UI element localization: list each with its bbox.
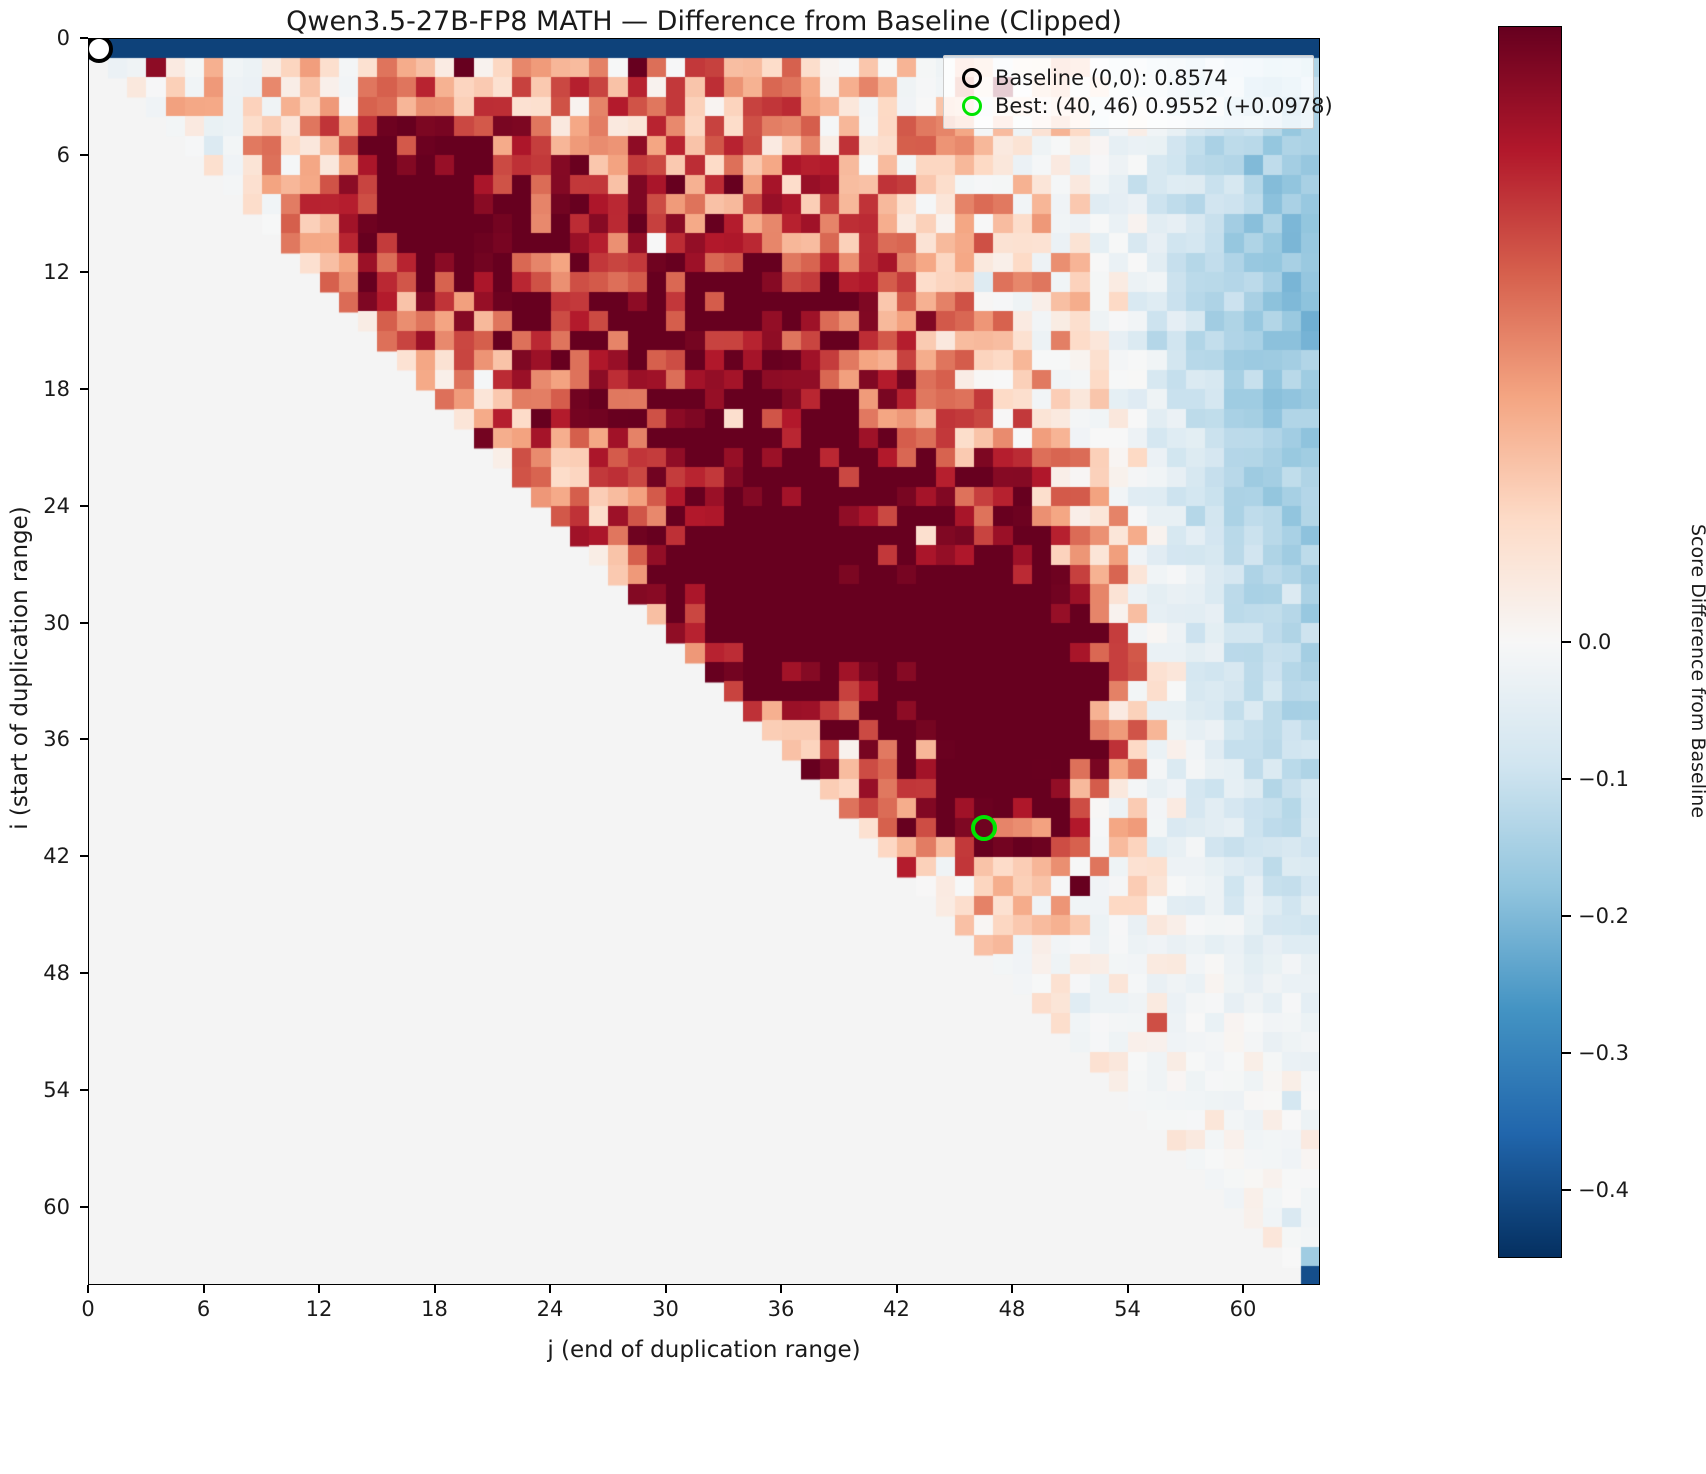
- colorbar-tick-label: −0.4: [1578, 1178, 1629, 1202]
- legend-label-baseline: Baseline (0,0): 0.8574: [995, 66, 1228, 90]
- y-tick-label: 6: [57, 143, 70, 167]
- y-tick: [80, 154, 88, 156]
- y-tick: [80, 388, 88, 390]
- y-tick: [80, 622, 88, 624]
- x-tick: [1011, 1285, 1013, 1293]
- colorbar-tick-label: 0.0: [1578, 630, 1611, 654]
- heatmap-axes[interactable]: [88, 38, 1320, 1285]
- x-tick: [87, 1285, 89, 1293]
- colorbar-label: Score Difference from Baseline: [1687, 391, 1706, 951]
- legend-box: Baseline (0,0): 0.8574 Best: (40, 46) 0.…: [943, 55, 1314, 129]
- x-tick-label: 60: [1230, 1297, 1257, 1321]
- y-tick-label: 60: [43, 1195, 70, 1219]
- x-axis-label: j (end of duplication range): [88, 1337, 1320, 1363]
- y-tick: [80, 37, 88, 39]
- x-tick: [1242, 1285, 1244, 1293]
- black-ring-icon: [955, 68, 988, 88]
- x-tick: [549, 1285, 551, 1293]
- x-tick-label: 30: [652, 1297, 679, 1321]
- y-tick-label: 36: [43, 727, 70, 751]
- x-tick-label: 12: [306, 1297, 333, 1321]
- y-tick: [80, 738, 88, 740]
- x-tick: [434, 1285, 436, 1293]
- y-tick: [80, 271, 88, 273]
- x-tick: [780, 1285, 782, 1293]
- x-tick: [665, 1285, 667, 1293]
- y-tick-label: 48: [43, 961, 70, 985]
- y-tick-label: 12: [43, 260, 70, 284]
- y-tick: [80, 1206, 88, 1208]
- legend-label-best: Best: (40, 46) 0.9552 (+0.0978): [995, 94, 1333, 118]
- y-tick-label: 42: [43, 844, 70, 868]
- y-tick-label: 54: [43, 1078, 70, 1102]
- y-tick: [80, 855, 88, 857]
- page-title: Qwen3.5-27B-FP8 MATH — Difference from B…: [88, 6, 1320, 37]
- x-tick-label: 24: [537, 1297, 564, 1321]
- y-tick: [80, 505, 88, 507]
- x-tick: [1127, 1285, 1129, 1293]
- y-tick: [80, 972, 88, 974]
- x-tick-label: 48: [999, 1297, 1026, 1321]
- colorbar-tick-label: −0.1: [1578, 767, 1629, 791]
- heatmap-cells[interactable]: [89, 39, 1320, 1285]
- colorbar-tick-label: −0.3: [1578, 1041, 1629, 1065]
- x-tick-label: 6: [197, 1297, 210, 1321]
- green-ring-icon: [955, 96, 988, 116]
- colorbar-gradient: [1498, 26, 1562, 1258]
- x-tick-label: 42: [883, 1297, 910, 1321]
- x-tick: [318, 1285, 320, 1293]
- colorbar-tick-label: −0.2: [1578, 904, 1629, 928]
- colorbar-tick: [1562, 915, 1571, 917]
- colorbar-tick: [1562, 1189, 1571, 1191]
- x-tick-label: 54: [1114, 1297, 1141, 1321]
- colorbar-tick: [1562, 778, 1571, 780]
- x-tick: [896, 1285, 898, 1293]
- y-tick-label: 24: [43, 494, 70, 518]
- colorbar: [1498, 26, 1562, 1258]
- x-tick-label: 0: [81, 1297, 94, 1321]
- colorbar-tick: [1562, 1052, 1571, 1054]
- figure-canvas: Qwen3.5-27B-FP8 MATH — Difference from B…: [0, 0, 1706, 1474]
- y-axis-label: i (start of duplication range): [7, 318, 33, 1018]
- x-tick: [203, 1285, 205, 1293]
- y-tick-label: 18: [43, 377, 70, 401]
- y-tick-label: 30: [43, 611, 70, 635]
- legend-item-baseline: Baseline (0,0): 0.8574: [955, 64, 1302, 91]
- y-tick-label: 0: [57, 26, 70, 50]
- x-tick-label: 36: [768, 1297, 795, 1321]
- legend-item-best: Best: (40, 46) 0.9552 (+0.0978): [955, 92, 1302, 119]
- colorbar-tick: [1562, 641, 1571, 643]
- y-tick: [80, 1089, 88, 1091]
- x-tick-label: 18: [421, 1297, 448, 1321]
